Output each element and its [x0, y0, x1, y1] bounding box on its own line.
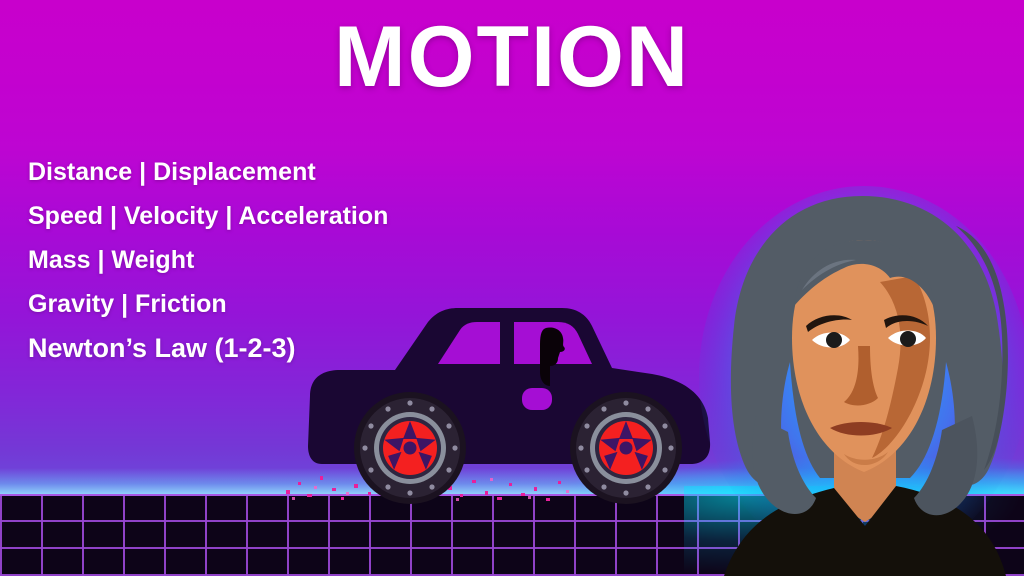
page-title: MOTION	[0, 12, 1024, 102]
newton-portrait	[694, 186, 1024, 576]
list-item-speed: Speed | Velocity | Acceleration	[28, 194, 458, 238]
car-illustration	[300, 300, 720, 510]
list-item-mass: Mass | Weight	[28, 238, 458, 282]
list-item-distance: Distance | Displacement	[28, 150, 458, 194]
slide-canvas: MOTION Distance | Displacement Speed | V…	[0, 0, 1024, 576]
wheel-rear-icon	[354, 392, 466, 504]
wheel-front-icon	[570, 392, 682, 504]
